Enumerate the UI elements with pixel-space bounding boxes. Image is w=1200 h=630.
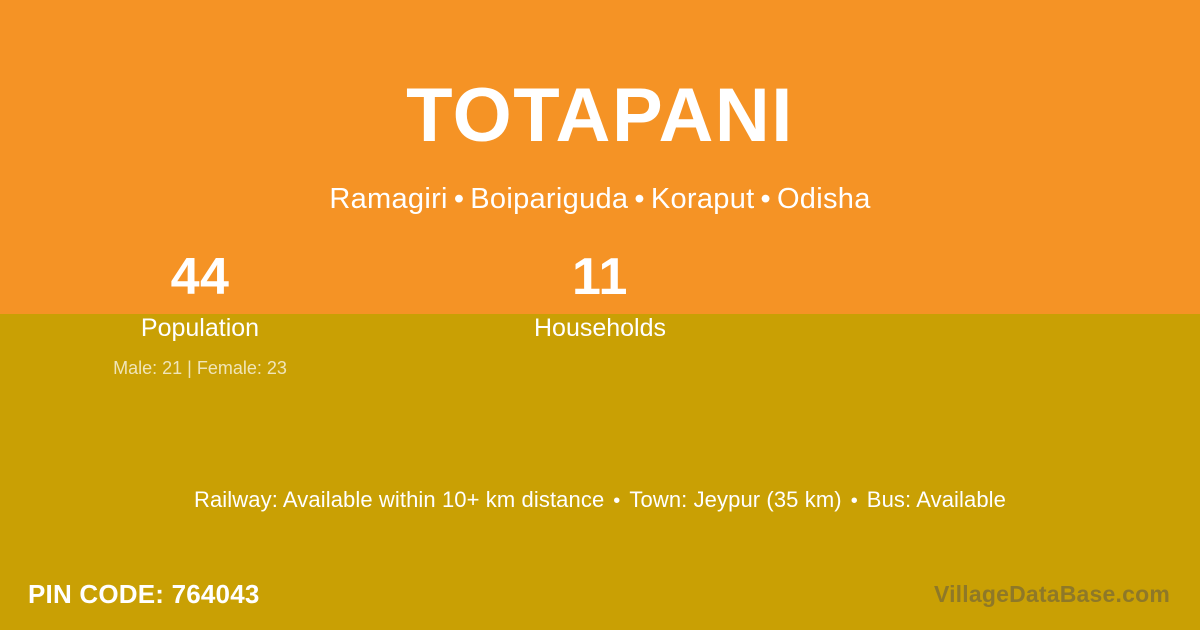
stat-households-label: Households [400, 313, 800, 343]
facility-separator-icon: • [604, 490, 629, 512]
stats-row: 44 Population Male: 21 | Female: 23 11 H… [0, 246, 1200, 406]
page-title: TOTAPANI [0, 78, 1200, 154]
breadcrumb-item-district: Koraput [651, 183, 755, 215]
breadcrumb-item-block: Boipariguda [470, 183, 628, 215]
breadcrumb: Ramagiri•Boipariguda•Koraput•Odisha [0, 182, 1200, 217]
stat-population-value: 44 [0, 246, 400, 308]
breadcrumb-separator-icon: • [448, 183, 470, 215]
facility-railway: Railway: Available within 10+ km distanc… [194, 487, 604, 512]
facilities-summary: Railway: Available within 10+ km distanc… [0, 485, 1200, 516]
breadcrumb-separator-icon: • [754, 183, 776, 215]
site-watermark: VillageDataBase.com [934, 579, 1170, 609]
breadcrumb-separator-icon: • [628, 183, 650, 215]
breadcrumb-item-state: Odisha [777, 183, 871, 215]
village-info-card: TOTAPANI Ramagiri•Boipariguda•Koraput•Od… [0, 0, 1200, 630]
stat-population: 44 Population Male: 21 | Female: 23 [0, 246, 400, 406]
stat-population-label: Population [0, 313, 400, 343]
facility-separator-icon: • [842, 490, 867, 512]
facility-town: Town: Jeypur (35 km) [629, 487, 841, 512]
pin-code-label: PIN CODE: 764043 [28, 579, 260, 609]
stat-households-value: 11 [400, 246, 800, 308]
stat-households: 11 Households [400, 246, 800, 406]
stat-population-gender-breakdown: Male: 21 | Female: 23 [0, 357, 400, 379]
facility-bus: Bus: Available [867, 487, 1006, 512]
breadcrumb-item-panchayat: Ramagiri [329, 183, 447, 215]
